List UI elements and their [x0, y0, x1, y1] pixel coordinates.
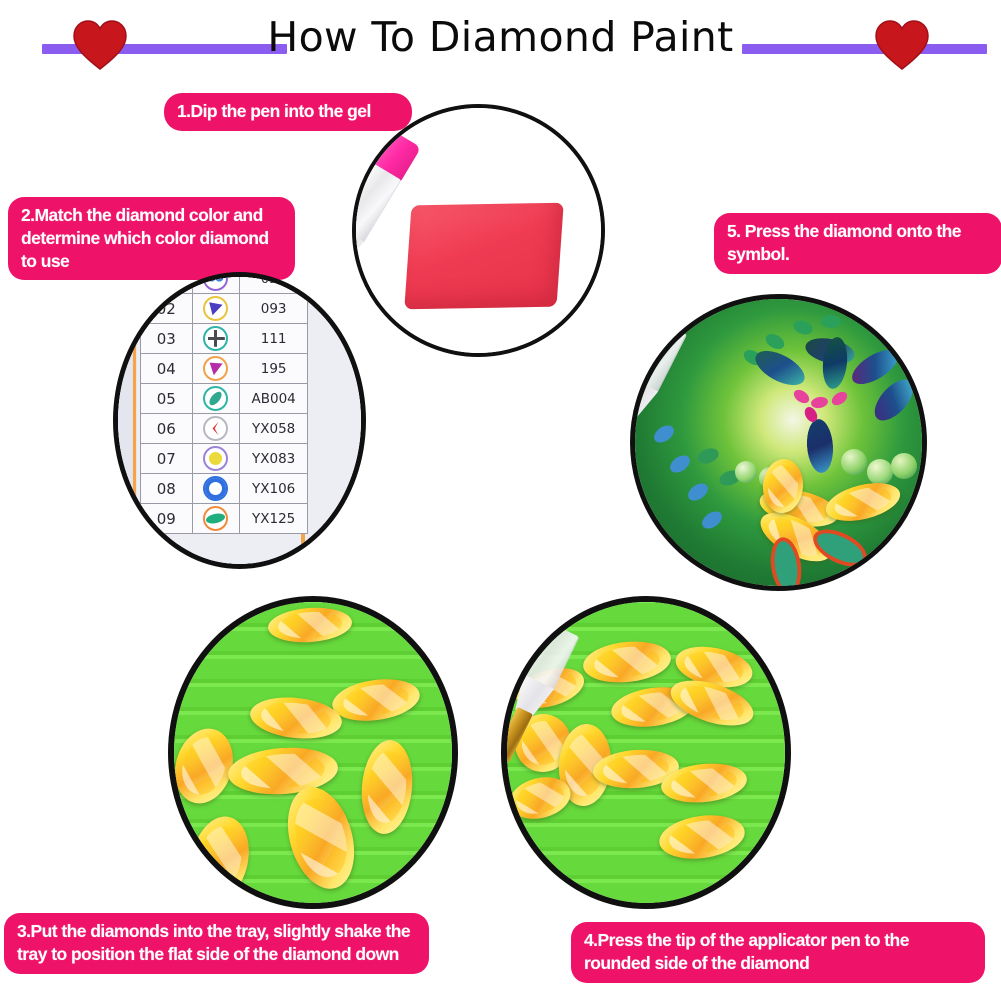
chart-cell-code: 195: [240, 354, 308, 384]
chart-cell-code: 111: [240, 324, 308, 354]
step-3-label: 3.Put the diamonds into the tray, slight…: [4, 913, 429, 974]
step-2-label: 2.Match the diamond color and determine …: [8, 197, 295, 280]
chart-cell-no: 07: [141, 444, 193, 474]
header-band: How To Diamond Paint: [0, 0, 1001, 90]
chart-cell-no: 08: [141, 474, 193, 504]
chart-cell-symbol: [192, 384, 240, 414]
chart-cell-symbol: [192, 414, 240, 444]
grey-ring-red-arrow-icon: [203, 416, 228, 441]
chart-cell-no: 03: [141, 324, 193, 354]
table-row: 04195: [141, 354, 308, 384]
chart-cell-no: 06: [141, 414, 193, 444]
blue-ring-hollow-icon: [203, 476, 228, 501]
chart-cell-code: AB004: [240, 384, 308, 414]
orange-ring-magenta-triangle-icon: [203, 356, 228, 381]
chart-cell-code: YX083: [240, 444, 308, 474]
diamonds-in-tray-photo: [168, 596, 458, 909]
chart-cell-symbol: [192, 294, 240, 324]
table-row: 06YX058: [141, 414, 308, 444]
chart-cell-symbol: [192, 504, 240, 534]
gel-pad: [404, 203, 563, 310]
chart-cell-symbol: [192, 324, 240, 354]
chart-cell-code: YX058: [240, 414, 308, 444]
infographic-page: How To Diamond Paint 1.Dip the pen into …: [0, 0, 1001, 1001]
pen-dipping-into-gel-photo: [352, 104, 605, 357]
table-row: 08YX106: [141, 474, 308, 504]
table-row: 07YX083: [141, 444, 308, 474]
table-row: 03111: [141, 324, 308, 354]
table-row: 09YX125: [141, 504, 308, 534]
yellow-ring-blue-triangle-icon: [203, 296, 228, 321]
teal-ring-green-oval-icon: [203, 386, 228, 411]
teal-ring-plus-icon: [203, 326, 228, 351]
placing-diamond-on-canvas-photo: [630, 294, 927, 591]
chart-cell-code: YX106: [240, 474, 308, 504]
step-5-label: 5. Press the diamond onto the symbol.: [714, 213, 1001, 274]
chart-cell-code: 093: [240, 294, 308, 324]
chart-cell-no: 09: [141, 504, 193, 534]
color-chart-table: 02002093031110419505AB00406YX05807YX0830…: [140, 272, 308, 534]
pen-picking-diamond-photo: [501, 596, 791, 909]
chart-cell-symbol: [192, 444, 240, 474]
chart-cell-symbol: [192, 474, 240, 504]
step-4-label: 4.Press the tip of the applicator pen to…: [571, 922, 985, 983]
color-chart-photo: 02002093031110419505AB00406YX05807YX0830…: [113, 272, 366, 569]
purple-ring-yellow-disc-icon: [203, 446, 228, 471]
chart-cell-no: 04: [141, 354, 193, 384]
chart-cell-no: 05: [141, 384, 193, 414]
chart-cell-no: 02: [141, 294, 193, 324]
orange-ring-green-leaf-icon: [203, 506, 228, 531]
chart-cell-symbol: [192, 354, 240, 384]
page-title: How To Diamond Paint: [0, 13, 1001, 61]
chart-cell-code: YX125: [240, 504, 308, 534]
table-row: 02093: [141, 294, 308, 324]
table-row: 05AB004: [141, 384, 308, 414]
